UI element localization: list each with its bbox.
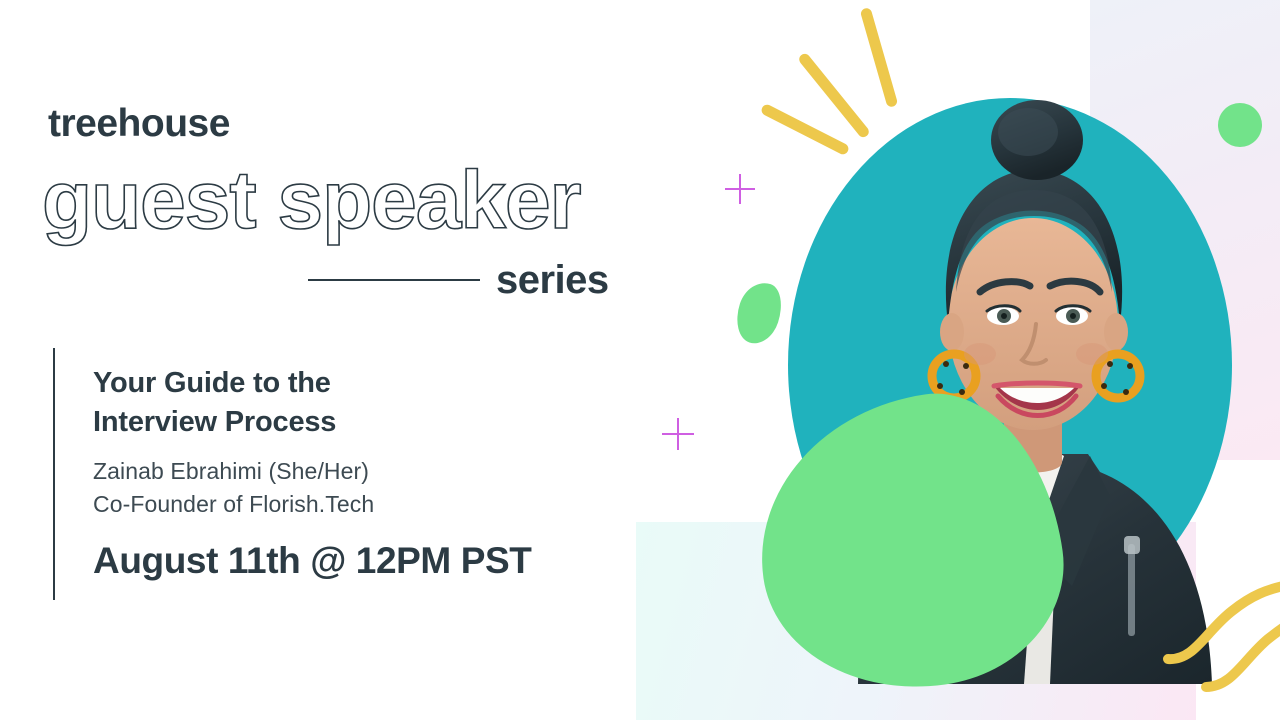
talk-title-line-2: Interview Process — [93, 406, 336, 438]
headline-outline: guest speaker — [42, 160, 581, 242]
promo-slide: treehouse guest speaker series Your Guid… — [0, 0, 1280, 720]
plus-mark-icon — [662, 418, 694, 450]
series-divider-rule — [308, 279, 480, 281]
plus-mark-icon — [725, 174, 755, 204]
talk-title-line-1: Your Guide to the — [93, 367, 331, 399]
green-circle-small — [938, 586, 1002, 650]
brand-wordmark: treehouse — [48, 104, 230, 143]
green-blob-small — [729, 277, 788, 349]
speaker-name: Zainab Ebrahimi (She/Her) — [93, 455, 531, 488]
event-datetime: August 11th @ 12PM PST — [93, 542, 531, 579]
speaker-role: Co-Founder of Florish.Tech — [93, 488, 531, 521]
series-label: series — [496, 260, 609, 300]
series-row: series — [308, 255, 624, 305]
talk-info-block: Your Guide to the Interview Process Zain… — [53, 348, 531, 600]
squiggle-lines-icon — [1160, 575, 1280, 705]
talk-title: Your Guide to the Interview Process — [93, 364, 531, 441]
